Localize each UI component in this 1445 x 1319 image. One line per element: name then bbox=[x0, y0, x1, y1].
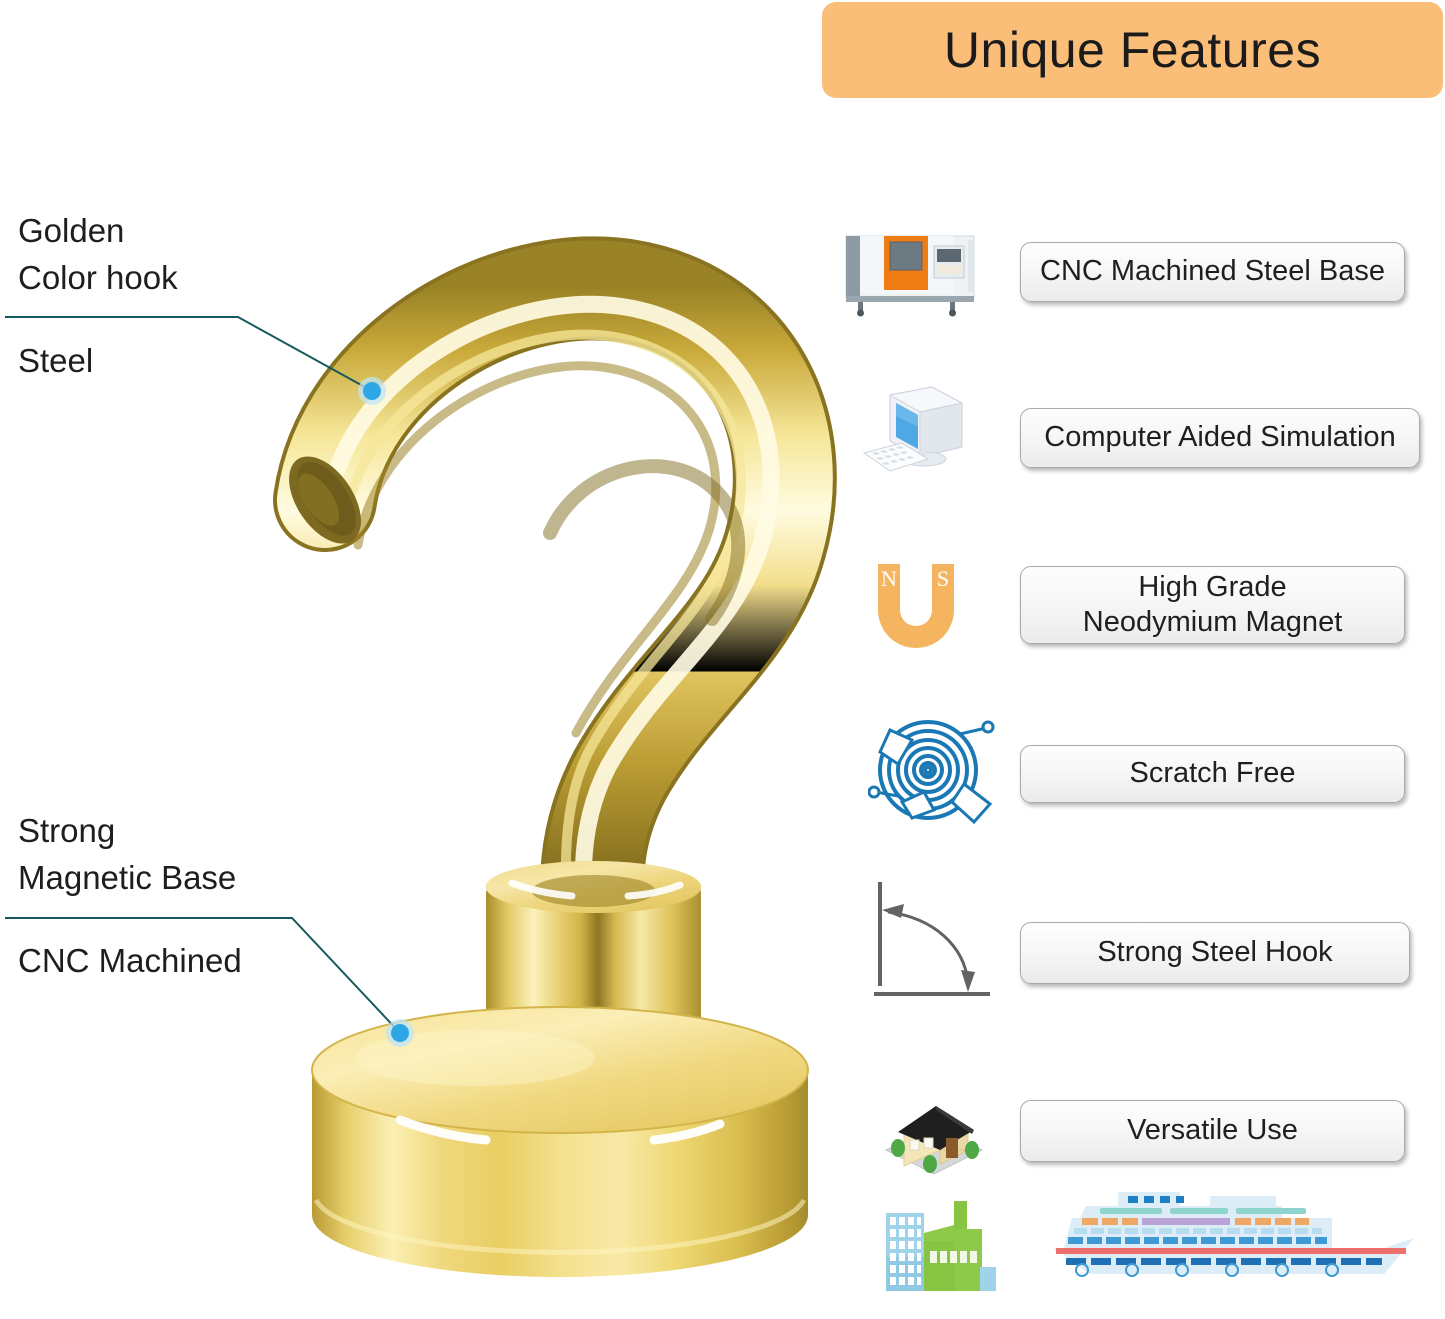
feature-label-text: High Grade Neodymium Magnet bbox=[1063, 570, 1363, 641]
annotation-golden-color-hook: Golden Color hook bbox=[18, 208, 178, 302]
feature-label-text: Strong Steel Hook bbox=[1087, 935, 1342, 970]
feature-label-versatile-use[interactable]: Versatile Use bbox=[1020, 1100, 1405, 1162]
annotation-line-2: Color hook bbox=[18, 255, 178, 302]
annotation-strong-magnetic-base: Strong Magnetic Base bbox=[18, 808, 236, 902]
annotation-line-2: Magnetic Base bbox=[18, 855, 236, 902]
feature-label-computer-aided-simulation[interactable]: Computer Aided Simulation bbox=[1020, 408, 1420, 468]
annotation-line-1: Strong bbox=[18, 808, 236, 855]
annotation-line-1: Golden bbox=[18, 208, 178, 255]
computer-monitor-icon bbox=[858, 383, 972, 487]
feature-label-strong-steel-hook[interactable]: Strong Steel Hook bbox=[1020, 922, 1410, 984]
page-title: Unique Features bbox=[944, 25, 1321, 75]
annotation-golden-color-hook-sub: Steel bbox=[18, 338, 93, 385]
horseshoe-magnet-icon: N S bbox=[866, 560, 966, 652]
annotation-line-3: Steel bbox=[18, 338, 93, 385]
annotation-strong-magnetic-base-sub: CNC Machined bbox=[18, 938, 242, 985]
angle-arrow-diagram-icon bbox=[868, 874, 994, 1006]
header-banner: Unique Features bbox=[822, 2, 1443, 98]
house-icon bbox=[882, 1088, 986, 1178]
feature-label-text: Versatile Use bbox=[1117, 1113, 1308, 1148]
feature-label-text: Computer Aided Simulation bbox=[1034, 420, 1405, 455]
feature-label-text: CNC Machined Steel Base bbox=[1030, 254, 1395, 289]
feature-label-scratch-free[interactable]: Scratch Free bbox=[1020, 745, 1405, 803]
cruise-ship-icon bbox=[1032, 1188, 1422, 1296]
svg-text:N: N bbox=[881, 566, 897, 591]
annotation-line-3: CNC Machined bbox=[18, 938, 242, 985]
factory-icon bbox=[878, 1195, 1000, 1299]
feature-label-cnc-machined-steel-base[interactable]: CNC Machined Steel Base bbox=[1020, 242, 1405, 302]
product-image-golden-magnetic-hook bbox=[250, 215, 870, 1290]
feature-label-high-grade-neodymium-magnet[interactable]: High Grade Neodymium Magnet bbox=[1020, 566, 1405, 644]
spiral-target-icon bbox=[868, 712, 998, 832]
svg-text:S: S bbox=[937, 566, 949, 591]
magnetic-base-disc bbox=[312, 1007, 808, 1277]
cnc-machine-icon bbox=[838, 228, 988, 320]
feature-label-text: Scratch Free bbox=[1120, 756, 1306, 791]
